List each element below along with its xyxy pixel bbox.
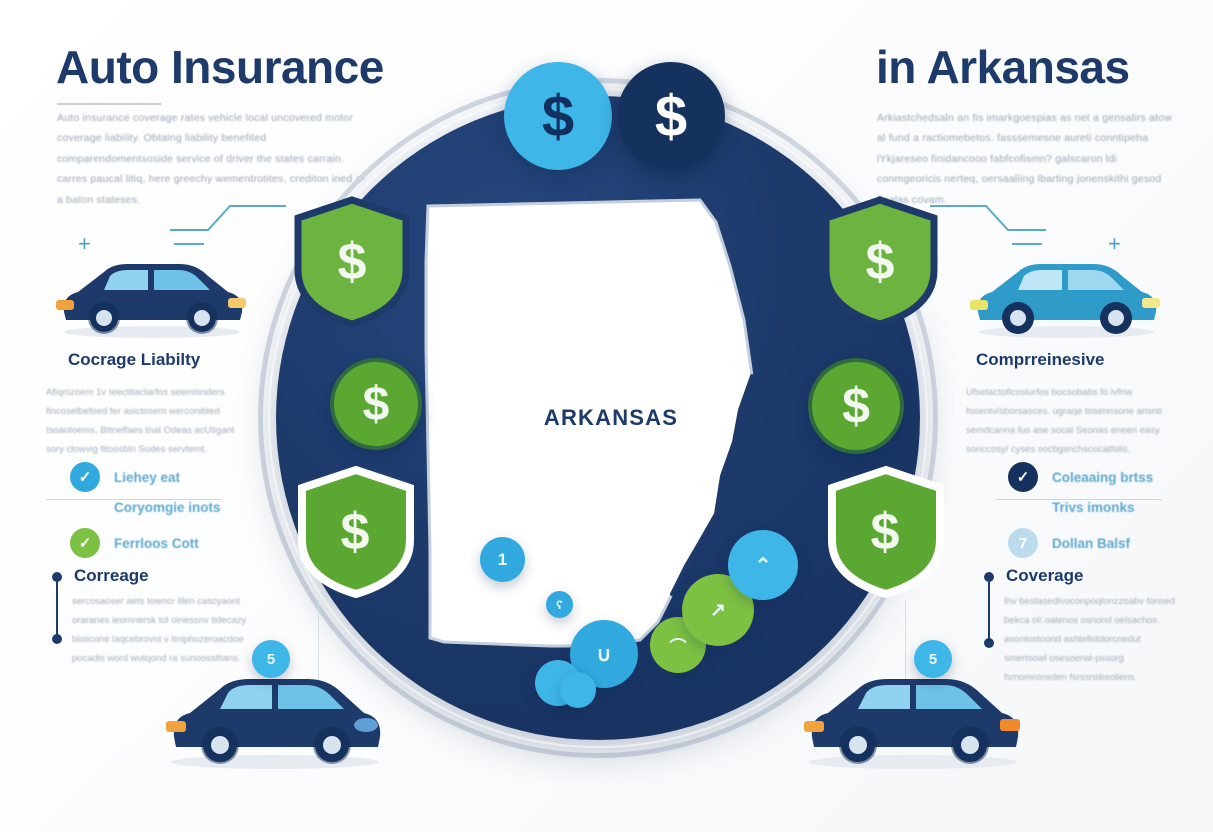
shield-top-left: $ <box>290 196 414 328</box>
bubble-2: ʕ <box>546 591 573 618</box>
timeline-dot-bottom <box>52 634 62 644</box>
left-list-item-label: Ferrloos Cott <box>114 536 199 551</box>
bubble-1: 1 <box>480 537 525 582</box>
left-list-item-label: Coryomgie inots <box>114 500 221 515</box>
right-timeline-marker <box>984 572 994 648</box>
shield-dollar-glyph: $ <box>824 466 946 598</box>
intro-paragraph-right: Arkiastchedsaln an fis imarkgoespias as … <box>877 108 1177 210</box>
right-timeline-body: Ihv bestasedlvoconpoqlonzzoabv fonsed be… <box>1004 592 1176 687</box>
car-top-left <box>52 250 252 340</box>
shield-dollar-glyph: $ <box>294 466 416 598</box>
shield-bottom-right: $ <box>824 466 946 598</box>
right-list-item-2[interactable]: Trivs imonks <box>1008 500 1135 515</box>
title-underline <box>57 103 161 105</box>
right-list-item-label: Coleaaing brtss <box>1052 470 1153 485</box>
bubble-5 <box>560 672 596 708</box>
timeline-dot-top <box>984 572 994 582</box>
page-title-left: Auto Insurance <box>56 40 384 94</box>
dollar-coin-navy: $ <box>617 62 725 170</box>
left-list-item-2[interactable]: Coryomgie inots <box>70 500 221 515</box>
right-list-item-3[interactable]: 7 Dollan Balsf <box>1008 528 1130 558</box>
car-badge-left: 5 <box>252 640 290 678</box>
intro-paragraph-left: Auto insurance coverage rates vehicle lo… <box>57 108 367 210</box>
left-timeline-marker <box>52 572 62 644</box>
page-title-right: in Arkansas <box>876 40 1130 94</box>
car-bottom-left <box>160 663 390 771</box>
left-section-heading: Cocrage Liabilty <box>68 350 200 370</box>
dollar-coin-green-right: $ <box>808 358 904 454</box>
right-section-body: Ufsetactoflcoslurfos bocsobabs fo ivfnw … <box>966 383 1162 459</box>
car-bottom-right <box>798 663 1028 771</box>
map-state-label: ARKANSAS <box>531 405 691 431</box>
shield-bottom-left: $ <box>294 466 416 598</box>
left-section-body: Afiqmzoem 1v teectitactarfos seemlsnders… <box>46 383 242 459</box>
dollar-coin-light: $ <box>504 62 612 170</box>
connector-line-right <box>928 198 1048 246</box>
timeline-bar <box>56 579 58 637</box>
right-list-item-1[interactable]: ✓ Coleaaing brtss <box>1008 462 1153 492</box>
left-list-item-1[interactable]: ✓ Liehey eat <box>70 462 180 492</box>
right-section-heading: Comprreinesive <box>976 350 1105 370</box>
bubble-8: ⌃ <box>728 530 798 600</box>
left-timeline-body: sercosaoser aets towncr lllen cascyaont … <box>72 592 250 668</box>
left-list-item-3[interactable]: ✓ Ferrloos Cott <box>70 528 199 558</box>
shield-dollar-glyph: $ <box>818 196 942 328</box>
right-list-item-label: Dollan Balsf <box>1052 536 1130 551</box>
infographic-canvas: Auto Insurance in Arkansas Auto insuranc… <box>0 0 1213 832</box>
shield-top-right: $ <box>818 196 942 328</box>
left-list-item-label: Liehey eat <box>114 470 180 485</box>
right-list-item-label: Trivs imonks <box>1052 500 1135 515</box>
timeline-dot-bottom <box>984 638 994 648</box>
connector-line-left <box>168 198 288 246</box>
timeline-dot-top <box>52 572 62 582</box>
left-timeline-heading: Correage <box>74 566 149 586</box>
shield-dollar-glyph: $ <box>290 196 414 328</box>
dollar-coin-green-left: $ <box>330 358 422 450</box>
number-circle-icon: 7 <box>1008 528 1038 558</box>
car-top-right <box>966 250 1166 340</box>
check-circle-icon: ✓ <box>70 528 100 558</box>
right-timeline-heading: Coverage <box>1006 566 1083 586</box>
check-circle-icon: ✓ <box>70 462 100 492</box>
car-badge-right: 5 <box>914 640 952 678</box>
check-circle-icon: ✓ <box>1008 462 1038 492</box>
timeline-bar <box>988 579 990 641</box>
